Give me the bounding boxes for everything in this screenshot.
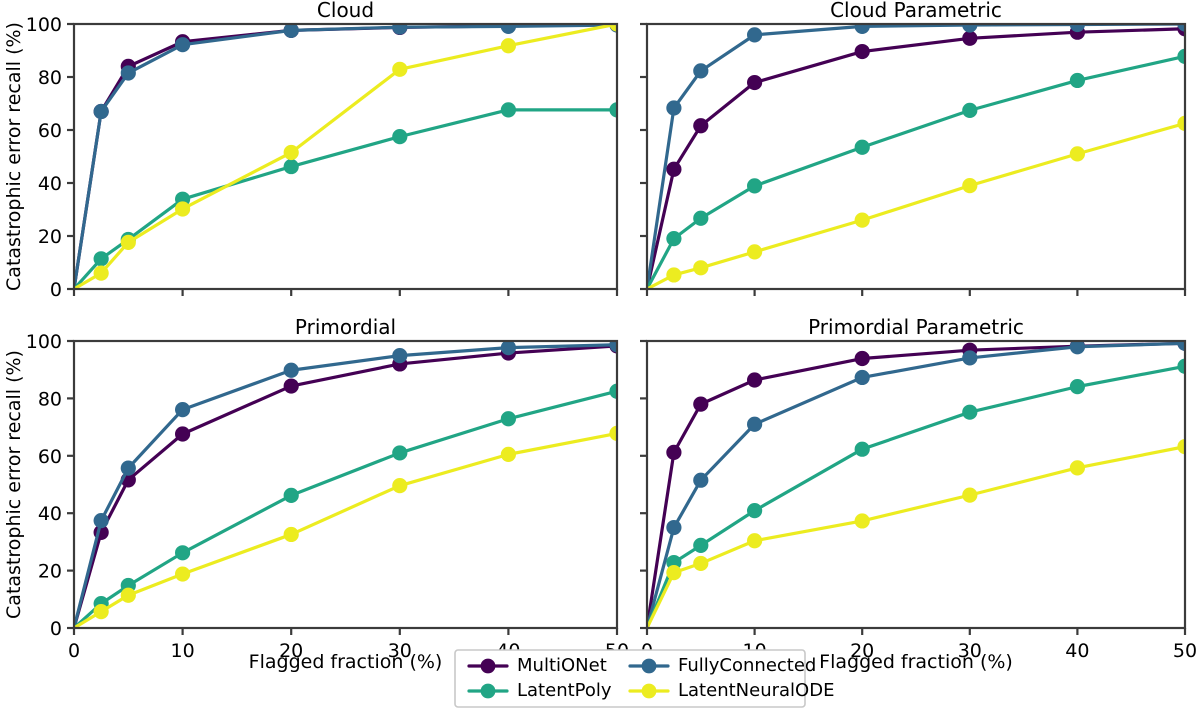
panel-bottom-left: Primordial01020304050020406080100: [26, 315, 629, 662]
legend[interactable]: MultiONetFullyConnectedLatentPolyLatentN…: [455, 650, 834, 707]
data-point-marker: [962, 488, 977, 503]
x-axis-label-left: Flagged fraction (%): [249, 651, 443, 673]
data-point-marker: [284, 159, 299, 174]
y-tick-label: 40: [38, 173, 62, 195]
y-axis-label-bottom: Catastrophic error recall (%): [3, 350, 25, 619]
data-point-marker: [1070, 379, 1085, 394]
data-point-marker: [175, 426, 190, 441]
data-point-marker: [693, 63, 708, 78]
panel-title: Cloud Parametric: [830, 0, 1002, 22]
data-point-marker: [501, 38, 516, 53]
data-point-marker: [392, 62, 407, 77]
panel-top-left: Cloud020406080100: [26, 0, 625, 301]
y-tick-label: 40: [38, 503, 62, 525]
y-tick-label: 100: [26, 331, 62, 353]
panel-title: Primordial: [295, 315, 396, 339]
data-point-marker: [175, 566, 190, 581]
y-tick-label: 60: [38, 446, 62, 468]
data-point-marker: [1070, 460, 1085, 475]
x-tick-label: 40: [1065, 640, 1089, 662]
data-point-marker: [855, 351, 870, 366]
data-point-marker: [666, 231, 681, 246]
y-axis-label-top: Catastrophic error recall (%): [3, 22, 25, 291]
y-tick-label: 0: [50, 618, 62, 640]
data-point-marker: [962, 178, 977, 193]
y-tick-label: 80: [38, 67, 62, 89]
legend-item-label: MultiONet: [517, 655, 607, 676]
data-point-marker: [392, 445, 407, 460]
data-point-marker: [747, 503, 762, 518]
legend-marker-swatch: [642, 684, 657, 699]
y-tick-label: 20: [38, 226, 62, 248]
y-tick-label: 100: [26, 14, 62, 36]
figure-container: Cloud020406080100Cloud ParametricPrimord…: [0, 0, 1200, 710]
data-point-marker: [666, 100, 681, 115]
data-point-marker: [94, 604, 109, 619]
data-point-marker: [94, 104, 109, 119]
x-axis-label-right: Flagged fraction (%): [819, 651, 1013, 673]
legend-item-label: FullyConnected: [678, 655, 816, 676]
data-point-marker: [284, 378, 299, 393]
data-point-marker: [693, 260, 708, 275]
data-point-marker: [855, 370, 870, 385]
legend-marker-swatch: [642, 659, 657, 674]
legend-item-label: LatentNeuralODE: [678, 680, 834, 701]
data-point-marker: [747, 178, 762, 193]
data-point-marker: [392, 348, 407, 363]
data-point-marker: [747, 533, 762, 548]
data-point-marker: [284, 145, 299, 160]
data-point-marker: [501, 102, 516, 117]
data-point-marker: [121, 235, 136, 250]
data-point-marker: [693, 397, 708, 412]
data-point-marker: [284, 363, 299, 378]
legend-marker-swatch: [481, 684, 496, 699]
data-point-marker: [693, 473, 708, 488]
data-point-marker: [175, 545, 190, 560]
data-point-marker: [501, 411, 516, 426]
data-point-marker: [747, 27, 762, 42]
data-point-marker: [855, 44, 870, 59]
data-point-marker: [747, 244, 762, 259]
y-tick-label: 20: [38, 561, 62, 583]
data-point-marker: [284, 488, 299, 503]
data-point-marker: [666, 445, 681, 460]
panel-title: Primordial Parametric: [808, 315, 1024, 339]
plot-area-background: [647, 341, 1185, 628]
data-point-marker: [666, 565, 681, 580]
data-point-marker: [747, 372, 762, 387]
data-point-marker: [693, 538, 708, 553]
data-point-marker: [855, 140, 870, 155]
data-point-marker: [747, 417, 762, 432]
data-point-marker: [855, 442, 870, 457]
data-point-marker: [121, 588, 136, 603]
data-point-marker: [693, 211, 708, 226]
data-point-marker: [962, 350, 977, 365]
data-point-marker: [693, 556, 708, 571]
data-point-marker: [1070, 146, 1085, 161]
data-point-marker: [962, 103, 977, 118]
panel-bottom-right: Primordial Parametric01020304050: [640, 315, 1197, 662]
data-point-marker: [501, 447, 516, 462]
data-point-marker: [962, 405, 977, 420]
plot-area-background: [647, 24, 1185, 289]
data-point-marker: [666, 267, 681, 282]
multi-panel-line-chart: Cloud020406080100Cloud ParametricPrimord…: [0, 0, 1200, 710]
plot-area-background: [74, 24, 617, 289]
data-point-marker: [392, 129, 407, 144]
data-point-marker: [121, 65, 136, 80]
data-point-marker: [121, 461, 136, 476]
x-tick-label: 50: [1173, 640, 1197, 662]
data-point-marker: [94, 513, 109, 528]
data-point-marker: [693, 118, 708, 133]
data-point-marker: [94, 251, 109, 266]
y-tick-label: 0: [50, 279, 62, 301]
data-point-marker: [392, 478, 407, 493]
legend-marker-swatch: [481, 659, 496, 674]
panel-title: Cloud: [317, 0, 374, 22]
data-point-marker: [666, 162, 681, 177]
y-tick-label: 80: [38, 388, 62, 410]
data-point-marker: [747, 75, 762, 90]
x-tick-label: 0: [68, 640, 80, 662]
data-point-marker: [175, 402, 190, 417]
data-point-marker: [175, 201, 190, 216]
legend-item-label: LatentPoly: [517, 680, 612, 701]
y-tick-label: 60: [38, 120, 62, 142]
data-point-marker: [962, 31, 977, 46]
data-point-marker: [1070, 73, 1085, 88]
data-point-marker: [284, 527, 299, 542]
data-point-marker: [501, 340, 516, 355]
data-point-marker: [855, 513, 870, 528]
data-point-marker: [94, 266, 109, 281]
data-point-marker: [175, 37, 190, 52]
data-point-marker: [666, 520, 681, 535]
data-point-marker: [855, 213, 870, 228]
panel-top-right: Cloud Parametric: [640, 0, 1193, 296]
x-tick-label: 10: [171, 640, 195, 662]
